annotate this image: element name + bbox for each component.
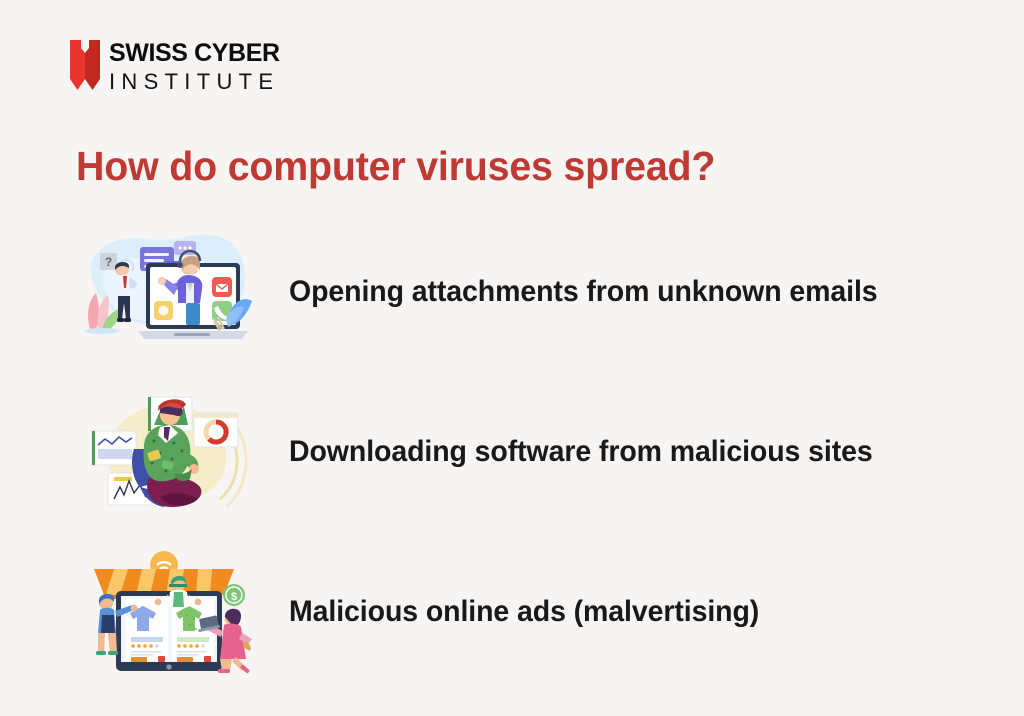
list-item-label: Opening attachments from unknown emails — [289, 275, 878, 309]
red-shield-chevron-icon — [70, 40, 100, 90]
list-item-label: Downloading software from malicious site… — [289, 435, 873, 469]
online-shop-tablet-illustration: $ — [74, 547, 259, 677]
bullet-list: ? — [0, 212, 1024, 692]
svg-text:?: ? — [105, 255, 112, 269]
laptop-support-chat-illustration: ? — [74, 227, 259, 357]
slide-canvas: SWISS CYBER INSTITUTE How do computer vi… — [0, 0, 1024, 716]
list-item: $ — [0, 532, 1024, 692]
list-item: Downloading software from malicious site… — [0, 372, 1024, 532]
brand-name-line2: INSTITUTE — [109, 71, 280, 93]
list-item: ? — [0, 212, 1024, 372]
brand-wordmark: SWISS CYBER INSTITUTE — [109, 40, 280, 93]
person-with-chart-cards-illustration — [74, 387, 259, 517]
list-item-label: Malicious online ads (malvertising) — [289, 595, 759, 629]
page-title: How do computer viruses spread? — [76, 143, 715, 190]
svg-text:$: $ — [231, 591, 237, 603]
brand-name-line1: SWISS CYBER — [109, 41, 280, 66]
brand-logo: SWISS CYBER INSTITUTE — [70, 40, 280, 93]
